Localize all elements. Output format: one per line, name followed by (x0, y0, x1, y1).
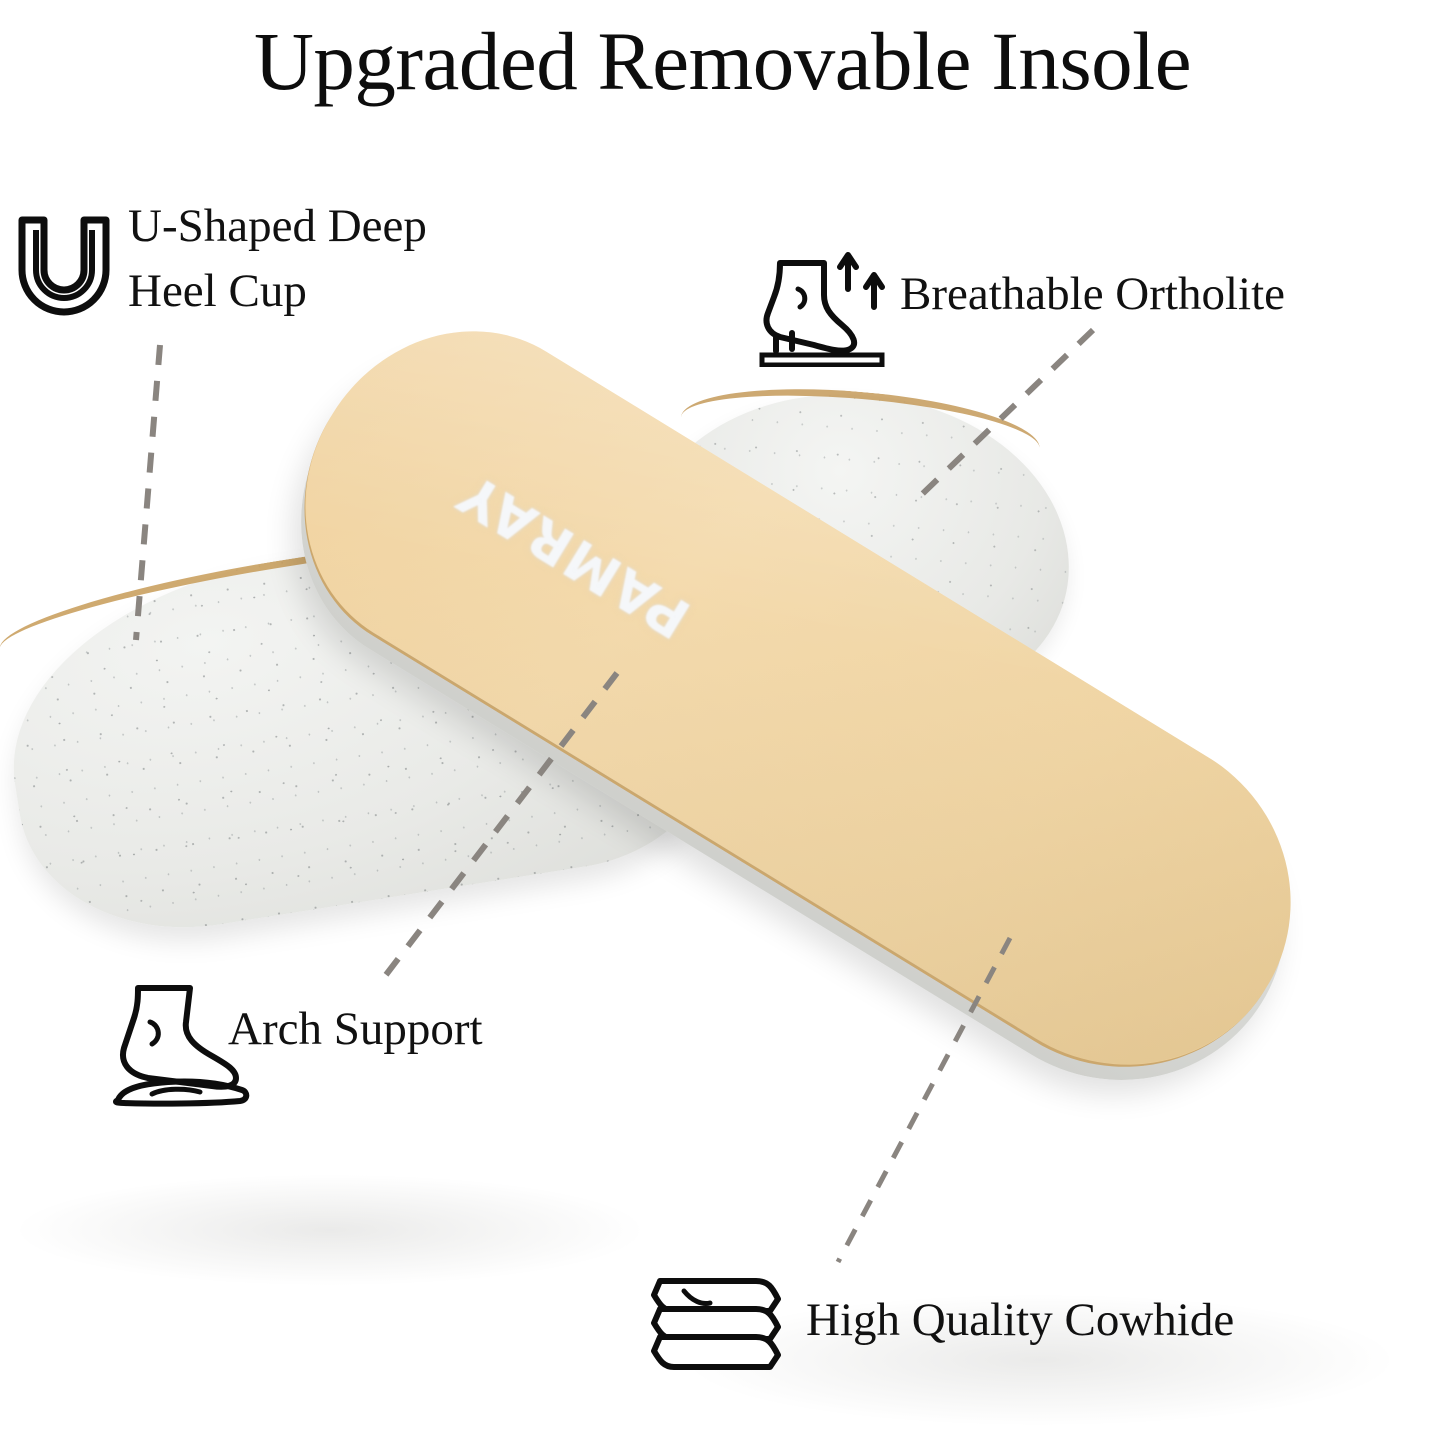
page-title: Upgraded Removable Insole (0, 18, 1445, 105)
feature-breathable-ortholite-label: Breathable Ortholite (900, 262, 1440, 327)
u-shaped-heel-cup-icon (8, 212, 120, 322)
feature-arch-support: Arch Support (228, 997, 648, 1062)
feature-breathable-ortholite: Breathable Ortholite (900, 262, 1440, 327)
feature-heel-cup-label: U-Shaped Deep Heel Cup (128, 194, 598, 324)
feature-arch-support-label: Arch Support (228, 997, 648, 1062)
feature-high-quality-cowhide-label: High Quality Cowhide (806, 1288, 1366, 1353)
feature-high-quality-cowhide: High Quality Cowhide (806, 1288, 1366, 1353)
arch-support-foot-icon (108, 978, 258, 1108)
breathable-foot-arrows-icon (758, 245, 894, 367)
shadow-left (20, 1175, 640, 1285)
feature-heel-cup: U-Shaped Deep Heel Cup (128, 194, 598, 324)
leather-layers-icon (648, 1257, 798, 1382)
infographic-canvas: Upgraded Removable Insole PAMRAY (0, 0, 1445, 1445)
